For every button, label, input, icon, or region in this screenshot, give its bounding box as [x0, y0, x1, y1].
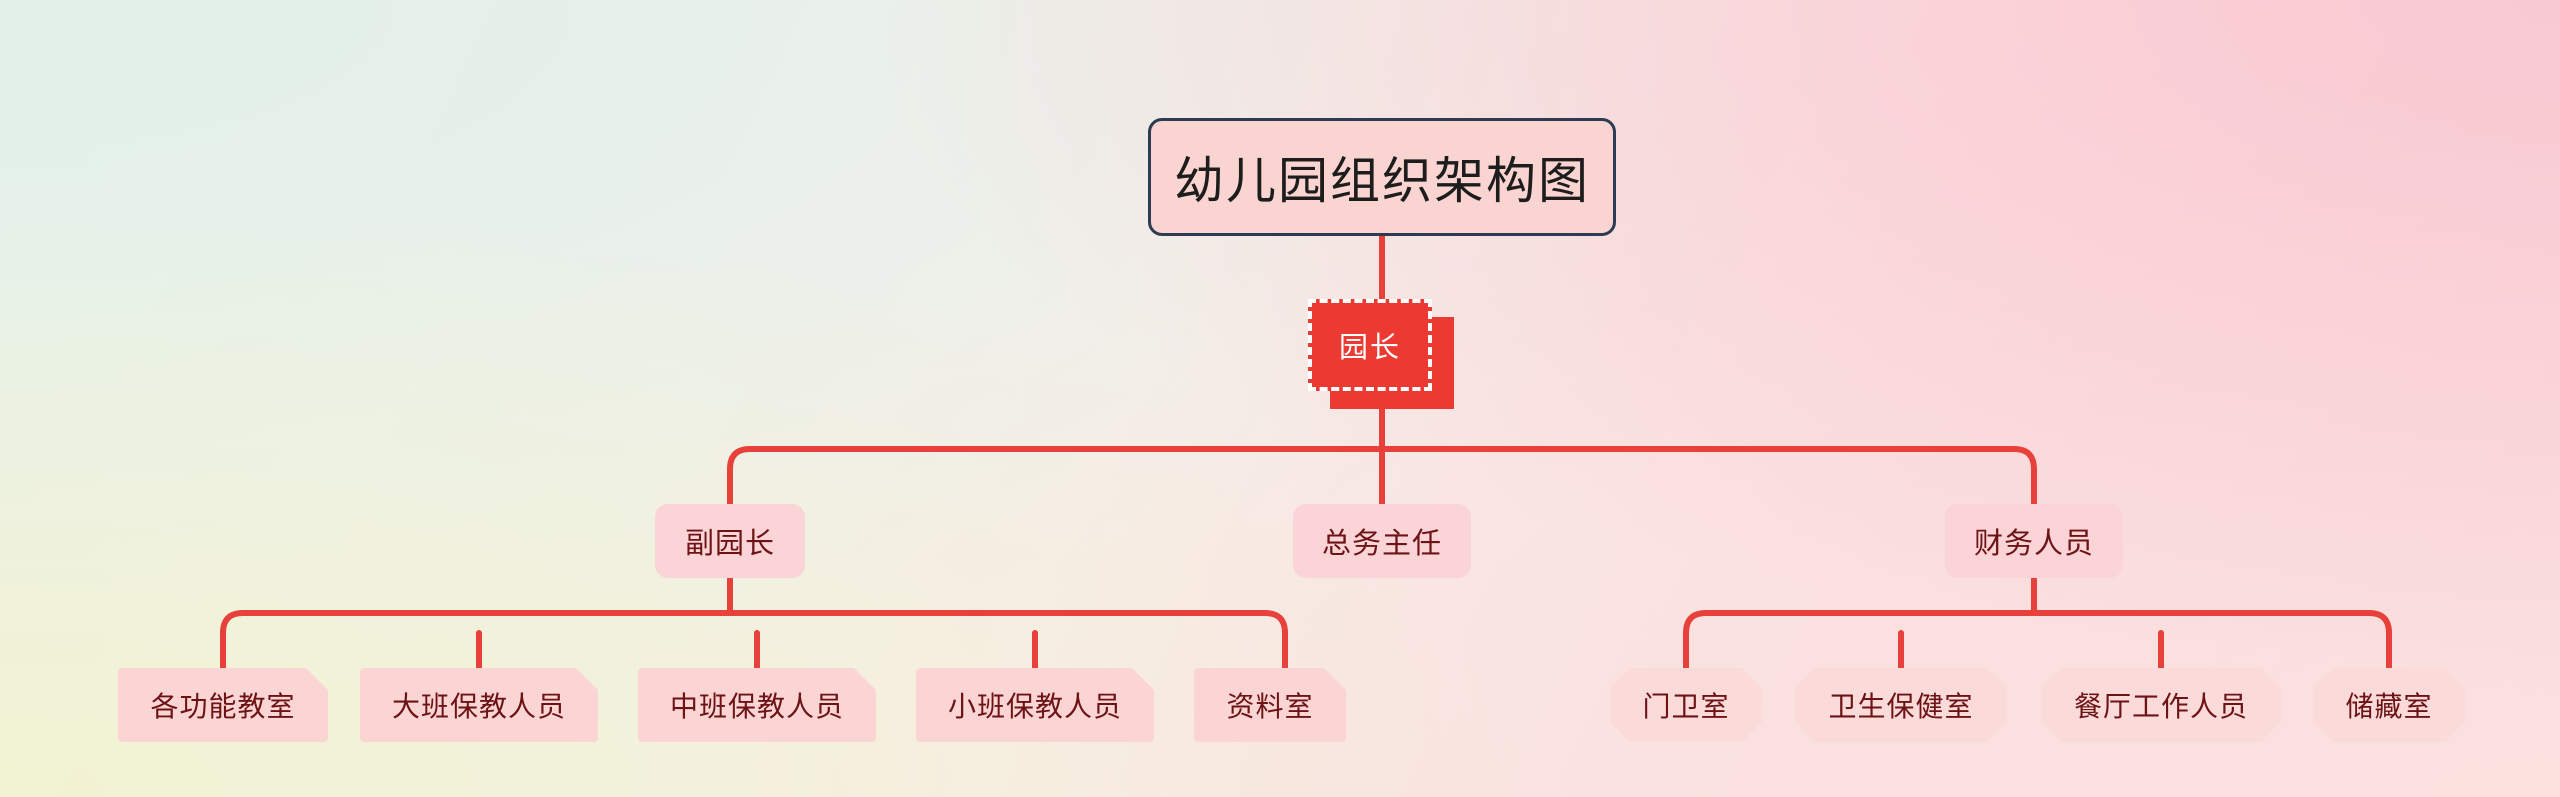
node-senior-class-staff[interactable]: 大班保教人员 [360, 668, 598, 742]
node-label: 餐厅工作人员 [2074, 685, 2248, 725]
node-vice-principal[interactable]: 副园长 [655, 504, 805, 578]
chart-title-node[interactable]: 幼儿园组织架构图 [1148, 118, 1616, 236]
node-archives-room[interactable]: 资料室 [1194, 668, 1346, 742]
node-middle-class-staff[interactable]: 中班保教人员 [638, 668, 876, 742]
node-function-classrooms[interactable]: 各功能教室 [118, 668, 328, 742]
node-label: 门卫室 [1642, 685, 1729, 725]
node-label: 总务主任 [1322, 520, 1442, 562]
node-canteen-staff[interactable]: 餐厅工作人员 [2041, 668, 2281, 742]
org-chart-canvas: 幼儿园组织架构图 园长 副园长 总务主任 财务人员 各功能教室 大班保教人员 中… [0, 0, 2560, 797]
node-general-affairs-director[interactable]: 总务主任 [1293, 504, 1471, 578]
chart-title-label: 幼儿园组织架构图 [1174, 141, 1590, 213]
node-finance-staff[interactable]: 财务人员 [1945, 504, 2123, 578]
level2-bus [730, 449, 2034, 469]
left-leaf-bus [223, 613, 1285, 633]
node-label: 财务人员 [1974, 520, 2094, 562]
node-label: 中班保教人员 [670, 685, 844, 725]
node-label: 卫生保健室 [1828, 685, 1973, 725]
node-storage-room[interactable]: 储藏室 [2313, 668, 2465, 742]
node-label: 大班保教人员 [392, 685, 566, 725]
right-leaf-bus [1686, 613, 2389, 633]
node-label: 小班保教人员 [948, 685, 1122, 725]
root-node-label: 园长 [1308, 299, 1432, 391]
node-health-care-room[interactable]: 卫生保健室 [1795, 668, 2007, 742]
node-label: 各功能教室 [150, 685, 295, 725]
root-node-principal[interactable]: 园长 [1308, 299, 1440, 399]
node-label: 储藏室 [2345, 685, 2432, 725]
node-label: 副园长 [685, 520, 775, 562]
node-label: 资料室 [1226, 685, 1313, 725]
node-security-room[interactable]: 门卫室 [1610, 668, 1762, 742]
node-junior-class-staff[interactable]: 小班保教人员 [916, 668, 1154, 742]
